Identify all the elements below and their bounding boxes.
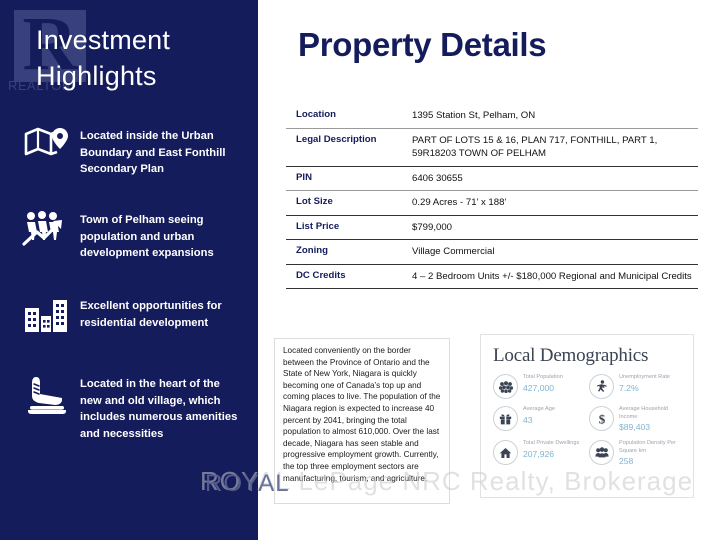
sidebar-title: Investment Highlights: [36, 22, 246, 94]
row-value: 6406 30655: [412, 166, 698, 191]
table-row: Location 1395 Station St, Pelham, ON: [286, 104, 698, 128]
people-density-icon: [589, 440, 614, 465]
stat-value: 258: [619, 456, 685, 467]
stat-label: Population Density Per Square km: [619, 440, 685, 455]
row-value: 1395 Station St, Pelham, ON: [412, 104, 698, 128]
buildings-icon: [14, 296, 80, 334]
row-label: List Price: [286, 215, 412, 240]
highlight-item-residential-development: Excellent opportunities for residential …: [14, 296, 250, 334]
walking-person-icon: [589, 374, 614, 399]
row-label: Location: [286, 104, 412, 128]
main-content: Property Details Location 1395 Station S…: [258, 0, 720, 540]
table-row: Legal Description PART OF LOTS 15 & 16, …: [286, 128, 698, 166]
highlight-item-village-amenities: Located in the heart of the new and old …: [14, 374, 250, 442]
stat-value: 43: [523, 415, 555, 426]
stat-value: 427,000: [523, 383, 563, 394]
stat-label: Unemployment Rate: [619, 374, 670, 382]
highlight-label: Town of Pelham seeing population and urb…: [80, 210, 240, 262]
stat-label: Total Population: [523, 374, 563, 382]
highlight-label: Located inside the Urban Boundary and Ea…: [80, 126, 240, 178]
highlight-item-urban-boundary: Located inside the Urban Boundary and Ea…: [14, 126, 250, 178]
row-label: Legal Description: [286, 128, 412, 166]
demographic-stat-private-dwellings: Total Private Dwellings 207,926: [493, 440, 589, 467]
demographic-stat-average-age: Average Age 43: [493, 406, 589, 433]
demographics-grid: Total Population 427,000: [493, 374, 685, 474]
stat-value: $89,403: [619, 422, 685, 433]
demographic-stat-unemployment-rate: Unemployment Rate 7.2%: [589, 374, 685, 399]
property-details-table: Location 1395 Station St, Pelham, ON Leg…: [286, 104, 698, 289]
sidebar-panel: R REALTOR Investment Highlights Located …: [0, 0, 258, 540]
table-row: DC Credits 4 – 2 Bedroom Units +/- $180,…: [286, 264, 698, 289]
stat-label: Average Age: [523, 406, 555, 414]
row-value: 4 – 2 Bedroom Units +/- $180,000 Regiona…: [412, 264, 698, 289]
map-location-icon: [14, 126, 80, 160]
table-row: List Price $799,000: [286, 215, 698, 240]
table-row: Zoning Village Commercial: [286, 240, 698, 265]
region-description-text: Located conveniently on the border betwe…: [274, 338, 450, 504]
demographic-stat-total-population: Total Population 427,000: [493, 374, 589, 399]
svg-text:$: $: [598, 412, 605, 426]
highlight-item-population-growth: Town of Pelham seeing population and urb…: [14, 210, 250, 262]
page-title: Property Details: [298, 26, 546, 64]
highlight-label: Excellent opportunities for residential …: [80, 296, 240, 331]
gift-icon: [493, 406, 518, 431]
local-demographics-card: Local Demographics Total Popula: [480, 334, 694, 498]
slide: R REALTOR Investment Highlights Located …: [0, 0, 720, 540]
stat-value: 7.2%: [619, 383, 670, 394]
people-group-icon: [493, 374, 518, 399]
demographic-stat-population-density: Population Density Per Square km 258: [589, 440, 685, 467]
row-value: 0.29 Acres - 71’ x 188’: [412, 191, 698, 216]
population-growth-icon: [14, 210, 80, 248]
house-icon: [493, 440, 518, 465]
table-row: PIN 6406 30655: [286, 166, 698, 191]
stat-label: Total Private Dwellings: [523, 440, 579, 448]
ice-skate-icon: [14, 374, 80, 416]
stat-value: 207,926: [523, 449, 579, 460]
dollar-sign-icon: $: [589, 406, 614, 431]
demographics-title: Local Demographics: [493, 345, 685, 367]
row-label: DC Credits: [286, 264, 412, 289]
demographic-stat-household-income: $ Average Household Income $89,403: [589, 406, 685, 433]
row-value: $799,000: [412, 215, 698, 240]
table-row: Lot Size 0.29 Acres - 71’ x 188’: [286, 191, 698, 216]
row-value: PART OF LOTS 15 & 16, PLAN 717, FONTHILL…: [412, 128, 698, 166]
row-label: PIN: [286, 166, 412, 191]
highlight-label: Located in the heart of the new and old …: [80, 374, 240, 442]
row-value: Village Commercial: [412, 240, 698, 265]
row-label: Zoning: [286, 240, 412, 265]
stat-label: Average Household Income: [619, 406, 685, 421]
row-label: Lot Size: [286, 191, 412, 216]
